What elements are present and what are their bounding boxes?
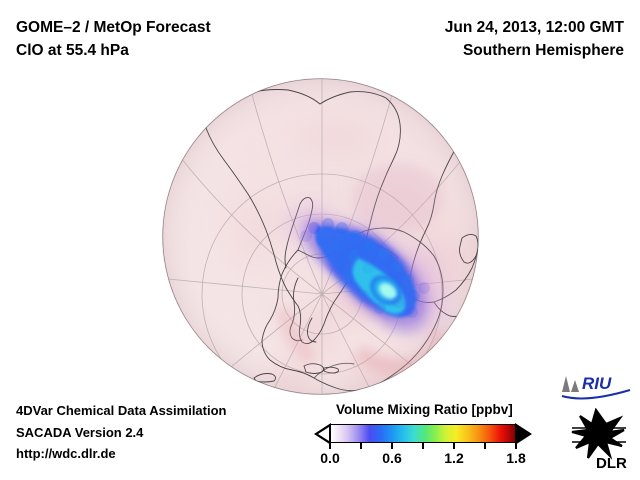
header-left-block: GOME–2 / MetOp Forecast ClO at 55.4 hPa	[16, 16, 211, 62]
colorbar-tick	[391, 443, 393, 449]
colorbar-tick	[515, 443, 517, 449]
colorbar-tick	[329, 443, 331, 449]
colorbar-high-arrow-cap	[515, 423, 532, 445]
page-subtitle: ClO at 55.4 hPa	[16, 39, 211, 62]
globe-map	[162, 78, 479, 395]
dlr-wordmark: DLR	[596, 455, 627, 470]
colorbar: 0.00.61.21.8	[314, 423, 532, 447]
colorbar-tick-label: 0.6	[382, 450, 401, 466]
version-label: SACADA Version 2.4	[16, 422, 227, 444]
colorbar-tick-label: 0.0	[320, 450, 339, 466]
riu-logo: RIU	[560, 372, 632, 402]
colorbar-tick	[453, 443, 455, 449]
dlr-logo: DLR	[566, 408, 632, 470]
globe-disc	[162, 78, 479, 395]
colorbar-tick-label: 1.8	[506, 450, 525, 466]
colorbar-tick	[360, 443, 362, 449]
colorbar-tick	[422, 443, 424, 449]
colorbar-tick-label: 1.2	[444, 450, 463, 466]
colorbar-title: Volume Mixing Ratio [ppbv]	[336, 402, 513, 417]
dlr-emblem-icon	[572, 410, 626, 458]
colorbar-ticks	[330, 443, 516, 449]
footer-info-block: 4DVar Chemical Data Assimilation SACADA …	[16, 400, 227, 465]
colorbar-tick	[484, 443, 486, 449]
url-label[interactable]: http://wdc.dlr.de	[16, 443, 227, 465]
colorbar-low-arrow-fill	[318, 427, 329, 441]
header-right-block: Jun 24, 2013, 12:00 GMT Southern Hemisph…	[445, 16, 624, 62]
riu-bars-icon	[562, 376, 579, 392]
page-title: GOME–2 / MetOp Forecast	[16, 16, 211, 39]
riu-wordmark: RIU	[582, 374, 612, 393]
hemisphere-label: Southern Hemisphere	[445, 39, 624, 62]
method-label: 4DVar Chemical Data Assimilation	[16, 400, 227, 422]
timestamp-label: Jun 24, 2013, 12:00 GMT	[445, 16, 624, 39]
colorbar-gradient	[330, 424, 516, 443]
globe-svg	[162, 78, 479, 395]
colorbar-tick-labels: 0.00.61.21.8	[314, 450, 532, 468]
